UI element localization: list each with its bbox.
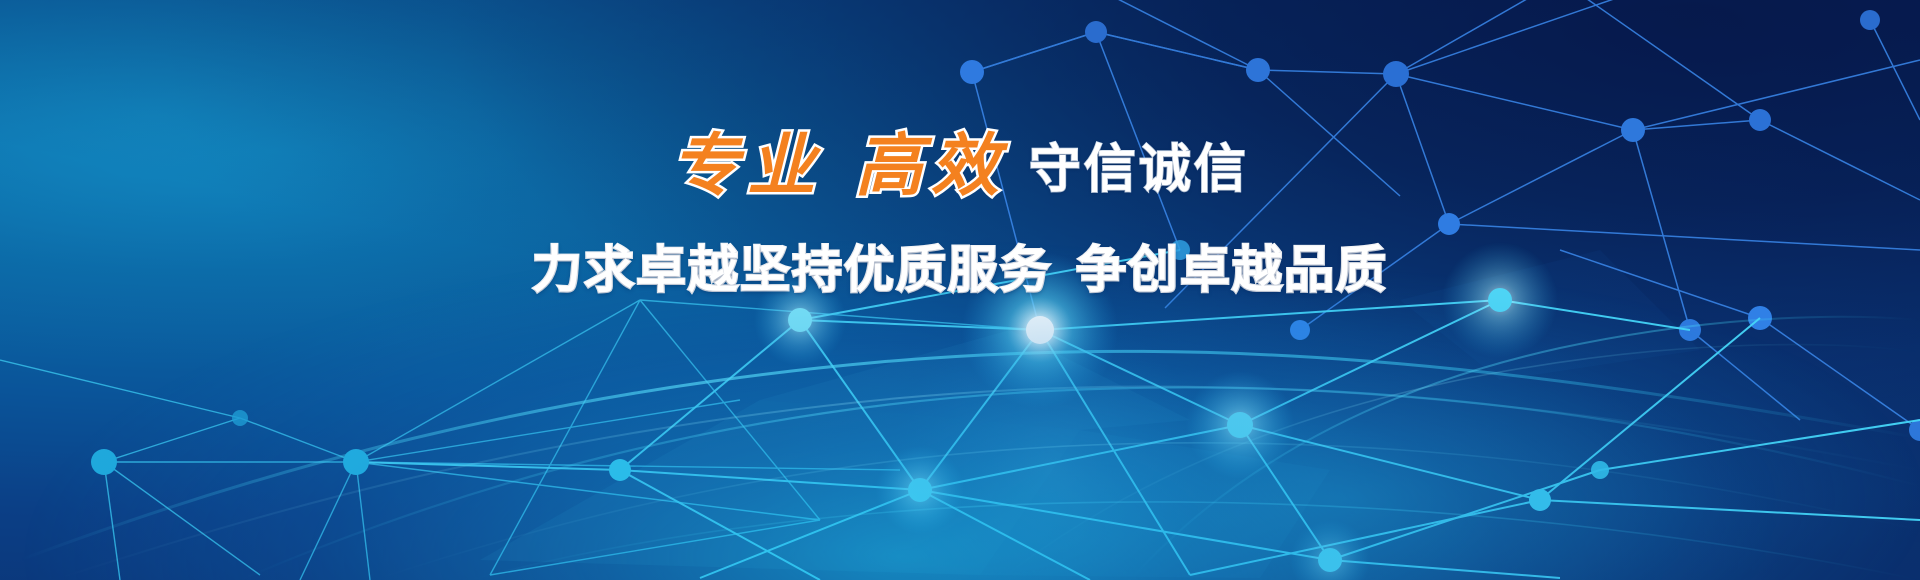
hero-banner: 专业 高效守信诚信 力求卓越坚持优质服务争创卓越品质 (0, 0, 1920, 580)
background-bottom-cyan-glow (0, 0, 1920, 580)
